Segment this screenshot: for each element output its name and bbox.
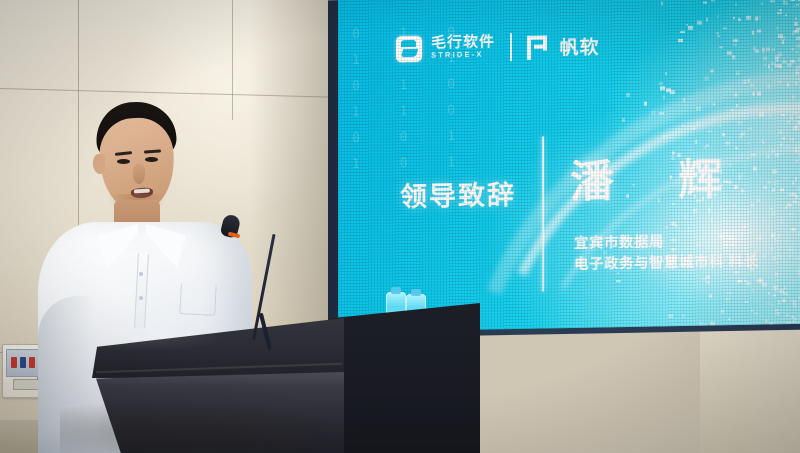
pixel-particle (777, 12, 782, 14)
stride-x-logo-english: STRIDE-X (431, 49, 495, 60)
pixel-particle (706, 17, 708, 21)
pixel-particle (703, 2, 707, 4)
pixel-particle (787, 63, 792, 65)
pixel-particle (661, 1, 663, 5)
pixel-particle (783, 57, 785, 60)
pixel-particle (717, 35, 720, 37)
stride-x-logo-chinese: 毛行软件 (431, 35, 495, 50)
slide-logo-row: 毛行软件 STRIDE-X 帆软 (396, 31, 600, 63)
pixel-particle (727, 51, 732, 55)
bottle-cap (411, 289, 421, 296)
pixel-particle (710, 69, 714, 72)
pixel-particle (795, 17, 797, 20)
pixel-particle (781, 36, 786, 40)
pixel-particle (793, 5, 795, 7)
pixel-particle (771, 62, 776, 65)
pixel-particle (775, 64, 780, 67)
pixel-particle (796, 64, 800, 68)
pixel-particle (766, 48, 770, 52)
led-screen: 0 1 0 1 0 1 0 1 0 1 1 0 0 0 1 1 0 1 毛行软件… (338, 0, 800, 332)
pixel-particle (686, 23, 688, 25)
pixel-particle (779, 64, 782, 68)
pixel-particle (768, 64, 770, 68)
person-shirt-pocket (179, 283, 217, 316)
pixel-particle (746, 16, 751, 20)
pixel-particle (663, 95, 665, 99)
slide-speaker-name: 潘 辉 (570, 143, 748, 210)
fanruan-logo-mark (527, 33, 551, 59)
pixel-particle (670, 90, 675, 94)
pixel-particle (791, 48, 794, 51)
pixel-particle (665, 72, 667, 75)
person-eye (145, 157, 158, 162)
pixel-particle (762, 48, 765, 52)
person-ear (93, 154, 105, 174)
slide-vertical-divider (542, 137, 544, 292)
pixel-particle (733, 39, 738, 42)
pixel-particle (644, 101, 647, 105)
pixel-particle (775, 55, 780, 58)
pixel-particle (711, 0, 715, 1)
pixel-particle (697, 21, 702, 25)
pixel-particle (758, 15, 761, 19)
pixel-particle (779, 9, 782, 11)
pixel-particle (688, 26, 693, 30)
pixel-particle (717, 16, 719, 18)
fanruan-logo-chinese: 帆软 (560, 32, 600, 60)
pixel-particle (794, 21, 798, 25)
screenshot-scene: 0 1 0 1 0 1 0 1 0 1 1 0 0 0 1 1 0 1 毛行软件… (0, 0, 800, 453)
pixel-particle (796, 37, 800, 40)
pixel-particle (775, 57, 778, 61)
pixel-particle (733, 43, 737, 45)
pixel-particle (792, 31, 795, 35)
pixel-particle (755, 49, 759, 52)
pixel-particle (736, 71, 740, 73)
pixel-particle (719, 46, 723, 48)
bottle-cap (391, 287, 401, 294)
person-nose (133, 164, 145, 184)
pixel-particle (666, 88, 671, 92)
pixel-particle (732, 56, 736, 60)
pixel-particle (622, 118, 625, 122)
pixel-particle (757, 29, 761, 32)
pixel-particle (778, 52, 782, 56)
pixel-particle (777, 58, 779, 62)
stride-x-logo-mark (396, 36, 422, 62)
pixel-particle (796, 3, 799, 5)
pixel-particle (752, 31, 754, 35)
pixel-particle (626, 93, 630, 97)
pixel-particle (732, 55, 735, 58)
pixel-particle (796, 44, 800, 48)
pixel-particle (770, 69, 773, 71)
pixel-particle (659, 82, 663, 84)
pixel-particle (794, 30, 799, 33)
lectern-floor-shadow (60, 400, 360, 453)
pixel-particle (772, 48, 775, 51)
pixel-particle (704, 76, 709, 80)
pixel-particle (782, 61, 787, 63)
pixel-particle (796, 28, 800, 30)
pixel-particle (778, 35, 783, 39)
pixel-particle (755, 17, 758, 21)
slide-section-title: 领导致辞 (400, 173, 516, 214)
pixel-particle (763, 56, 767, 60)
pixel-particle (738, 18, 741, 21)
pixel-particle (782, 40, 784, 44)
pixel-particle (660, 86, 665, 90)
slide-org-line-2: 电子政务与智慧城市科 科长 (574, 252, 759, 276)
person-eye (117, 159, 130, 164)
pixel-particle (761, 3, 763, 5)
pixel-particle (770, 0, 775, 2)
pixel-particle (736, 73, 739, 75)
pixel-particle (735, 3, 737, 6)
pixel-particle (753, 47, 756, 51)
logo-divider (510, 33, 512, 61)
pixel-particle (678, 39, 683, 42)
lectern-highlight (100, 322, 230, 352)
pixel-particle (764, 64, 766, 67)
pixel-particle (787, 64, 792, 67)
pixel-particle (783, 1, 788, 5)
pixel-particle (716, 33, 719, 35)
pixel-particle (762, 50, 765, 54)
pixel-particle (790, 60, 795, 63)
pixel-particle (680, 31, 685, 33)
pixel-particle (785, 14, 787, 16)
pixel-particle (776, 26, 779, 30)
pixel-particle (723, 27, 727, 29)
pixel-particle (783, 0, 785, 3)
pixel-particle (796, 50, 798, 52)
slide-speaker-organization: 宜宾市数据局 电子政务与智慧城市科 科长 (574, 231, 759, 276)
pixel-particle (733, 17, 735, 19)
